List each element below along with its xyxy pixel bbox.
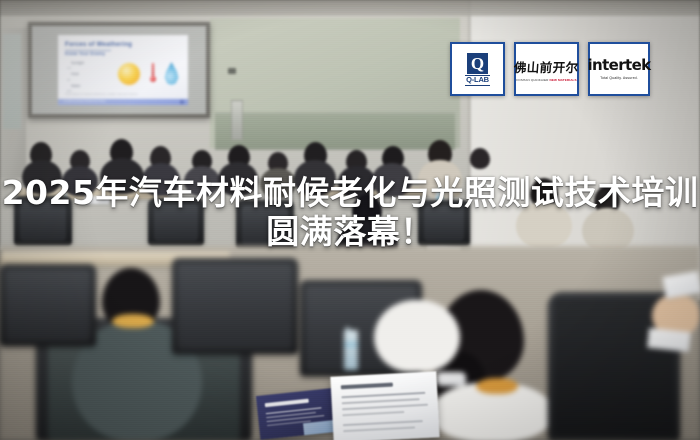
intertek-wordmark: intertek [587, 58, 650, 73]
brochure-image [303, 420, 336, 437]
handout-line [342, 411, 404, 416]
handout-line [343, 426, 415, 431]
logo-card-foshan-qiankaier: 佛山前开尔 FOSHAN QIANKAIER NEW MATERIALS [514, 42, 579, 96]
q-lab-icon: Q Q-LAB [465, 53, 490, 86]
brochure-title [265, 399, 309, 408]
intertek-tagline: Total Quality. Assured. [600, 76, 638, 80]
handout-document [330, 371, 439, 440]
q-lab-wordmark: Q-LAB [465, 75, 490, 86]
handout-line [343, 420, 423, 426]
foshan-tagline-main: FOSHAN QIANKAIER [516, 78, 548, 82]
logo-row: Q Q-LAB 佛山前开尔 FOSHAN QIANKAIER NEW MATER… [450, 42, 650, 96]
handout-line [342, 404, 428, 410]
handout-line [342, 398, 420, 404]
logo-card-intertek: intertek Total Quality. Assured. [588, 42, 650, 96]
logo-card-q-lab: Q Q-LAB [450, 42, 505, 96]
handout-title [341, 383, 393, 390]
q-lab-mark-letter: Q [467, 53, 488, 74]
brochure-navy [256, 388, 336, 440]
promo-banner: Forces of Weathering Know Your Enemy Sun… [0, 0, 700, 440]
foshan-qiankaier-tagline: FOSHAN QIANKAIER NEW MATERIALS [516, 78, 576, 82]
foshan-tagline-suffix: NEW MATERIALS [549, 78, 576, 82]
foshan-qiankaier-wordmark: 佛山前开尔 [514, 57, 580, 76]
handout-line [341, 392, 425, 398]
